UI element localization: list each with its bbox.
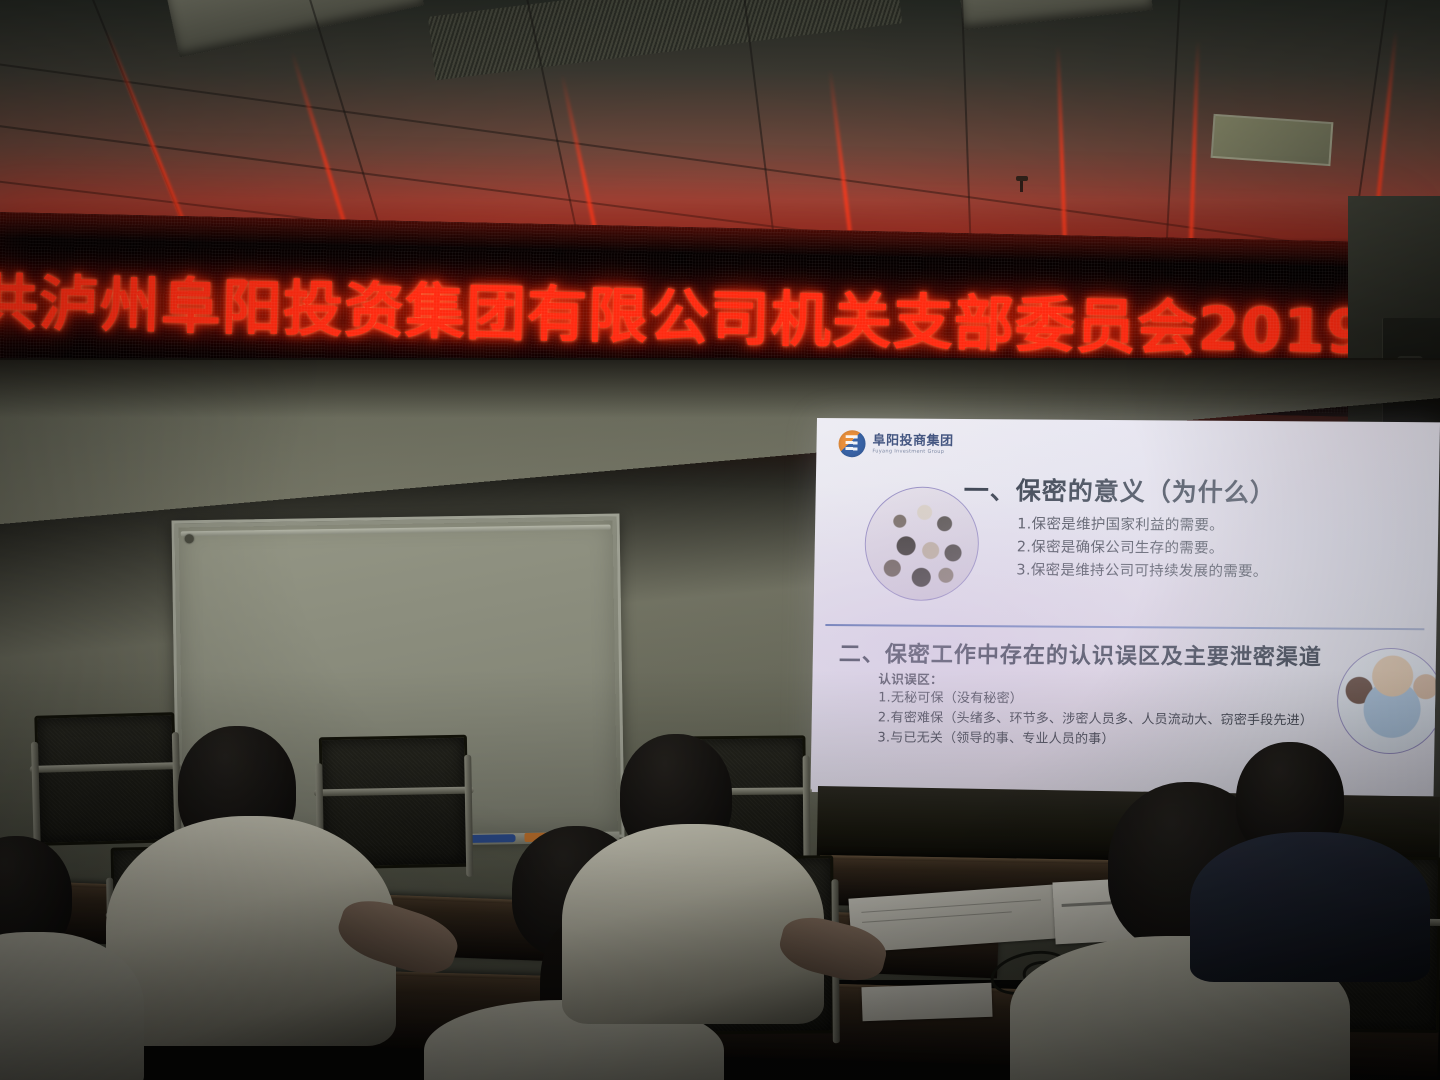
section1-item-2: 2.保密是确保公司生存的需要。 [1017,536,1269,561]
air-duct-secondary [957,0,1152,30]
logo-name-en: Fuyang Investment Group [872,449,953,455]
whiteboard-marker[interactable] [469,834,515,843]
vent-grille-icon [428,0,902,80]
presentation-slide: 阜阳投商集团 Fuyang Investment Group 一、保密的意义（为… [810,418,1440,796]
section1-item-1: 1.保密是维护国家利益的需要。 [1017,513,1269,538]
company-logo-icon [838,430,865,457]
chair-empty-left[interactable] [34,712,177,846]
air-duct [166,0,424,57]
projection-screen: 阜阳投商集团 Fuyang Investment Group 一、保密的意义（为… [810,418,1440,796]
slide-logo: 阜阳投商集团 Fuyang Investment Group [838,430,953,458]
whiteboard-mount-knob [185,534,194,543]
logo-name-cn: 阜阳投商集团 [873,434,954,448]
desk-paper-left-front[interactable] [861,983,992,1022]
slide-divider [825,624,1424,630]
wall-upper-shadow [0,358,1440,418]
slide-section1-list: 1.保密是维护国家利益的需要。 2.保密是确保公司生存的需要。 3.保密是维持公… [1016,513,1268,583]
sprinkler-head-icon [1016,176,1028,192]
slide-section2-subtitle: 认识误区： [878,668,943,687]
slide-section2-list: 1.无秘可保（没有秘密） 2.有密难保（头绪多、环节多、涉密人员多、人员流动大、… [877,688,1348,751]
team-cheering-photo [864,486,980,601]
ceiling [0,0,1440,250]
section1-item-3: 3.保密是维持公司可持续发展的需要。 [1016,559,1268,584]
meeting-room-photo: 共泸州阜阳投资集团有限公司机关支部委员会2019年6月固定党日 阜阳投商集团 F… [0,0,1440,1080]
section2-item-2: 2.有密难保（头绪多、环节多、涉密人员多、人员流动大、窃密手段先进） [878,708,1348,731]
slide-section1-title: 一、保密的意义（为什么） [963,471,1276,509]
slide-section2-title: 二、保密工作中存在的认识误区及主要泄密渠道 [839,636,1323,671]
business-people-photo [1336,648,1440,755]
ceiling-light-panel [1211,114,1334,166]
